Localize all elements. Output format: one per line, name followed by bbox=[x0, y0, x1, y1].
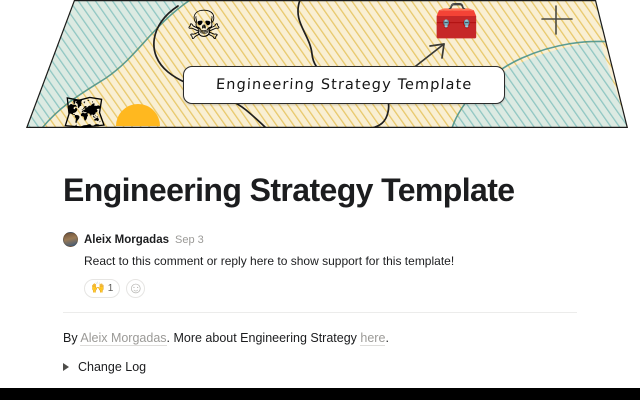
page-icon-world-map[interactable]: 🗺 bbox=[63, 96, 106, 130]
comment-date: Sep 3 bbox=[175, 234, 204, 246]
byline-author-link[interactable]: Aleix Morgadas bbox=[80, 331, 166, 346]
page-title: Engineering Strategy Template bbox=[63, 172, 577, 209]
byline: By Aleix Morgadas. More about Engineerin… bbox=[63, 329, 577, 348]
treasure-chest-icon: 🧰 bbox=[434, 3, 479, 39]
raised-hands-icon: 🙌 bbox=[91, 283, 105, 294]
comment-author: Aleix Morgadas bbox=[84, 234, 169, 246]
comment-block[interactable]: Aleix Morgadas Sep 3 React to this comme… bbox=[63, 231, 577, 298]
comment-header: Aleix Morgadas Sep 3 bbox=[63, 231, 577, 249]
byline-middle: . More about Engineering Strategy bbox=[167, 331, 361, 345]
add-reaction-button[interactable]: ☺ bbox=[126, 279, 145, 298]
change-log-label: Change Log bbox=[78, 360, 146, 374]
page-root: ☠ 🧰 Engineering Strategy Template 🗺 Engi… bbox=[0, 0, 640, 400]
change-log-toggle[interactable]: Change Log bbox=[63, 360, 577, 374]
cover-title-bubble: Engineering Strategy Template bbox=[183, 66, 505, 104]
bottom-bar bbox=[0, 388, 640, 400]
divider bbox=[63, 312, 577, 313]
avatar bbox=[63, 232, 78, 247]
byline-prefix: By bbox=[63, 331, 80, 345]
smiley-plus-icon: ☺ bbox=[128, 280, 144, 298]
chevron-right-icon[interactable] bbox=[63, 363, 69, 371]
skull-and-crossbones-icon: ☠ bbox=[186, 6, 222, 46]
byline-here-link[interactable]: here bbox=[360, 331, 385, 346]
comment-text: React to this comment or reply here to s… bbox=[84, 253, 577, 270]
byline-suffix: . bbox=[385, 331, 388, 345]
reaction-count: 1 bbox=[108, 283, 114, 294]
document-body: Engineering Strategy Template Aleix Morg… bbox=[0, 128, 640, 400]
cover-title-text: Engineering Strategy Template bbox=[215, 77, 472, 93]
reaction-row: 🙌 1 ☺ bbox=[84, 279, 577, 298]
reaction-pill-raised-hands[interactable]: 🙌 1 bbox=[84, 279, 120, 298]
